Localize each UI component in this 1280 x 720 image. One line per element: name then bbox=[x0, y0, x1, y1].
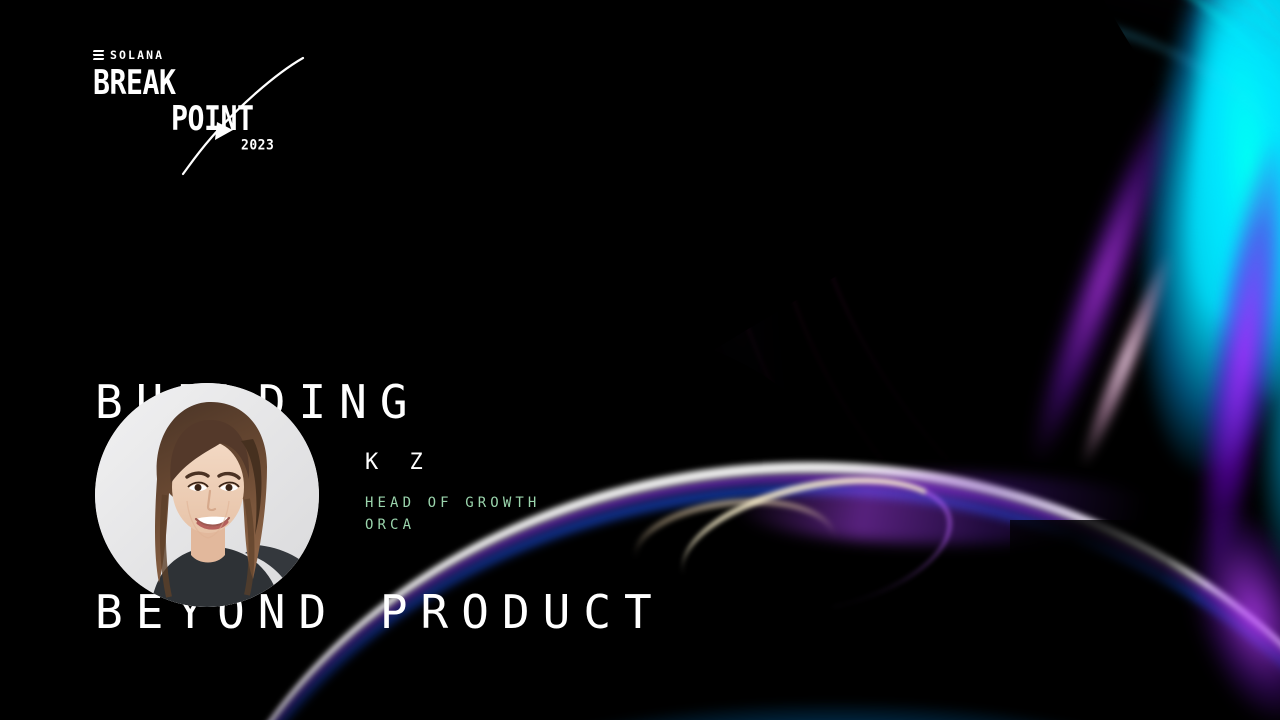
swoosh-arc-icon bbox=[155, 56, 305, 178]
speaker-details: K Z HEAD OF GROWTH ORCA bbox=[365, 448, 540, 542]
speaker-organization: ORCA bbox=[365, 514, 540, 536]
breakpoint-logo: SOLANA BREAK POINT 2023 bbox=[93, 48, 293, 144]
avatar bbox=[95, 383, 319, 607]
solana-bars-icon bbox=[93, 50, 104, 61]
speaker-role: HEAD OF GROWTH bbox=[365, 492, 540, 514]
slide-content: SOLANA BREAK POINT 2023 BUILDING BEYOND … bbox=[0, 0, 1280, 720]
speaker-name: K Z bbox=[365, 448, 540, 478]
speaker-block: K Z HEAD OF GROWTH ORCA bbox=[95, 383, 540, 607]
speaker-headshot-illustration bbox=[95, 383, 319, 607]
presentation-slide: SOLANA BREAK POINT 2023 BUILDING BEYOND … bbox=[0, 0, 1280, 720]
